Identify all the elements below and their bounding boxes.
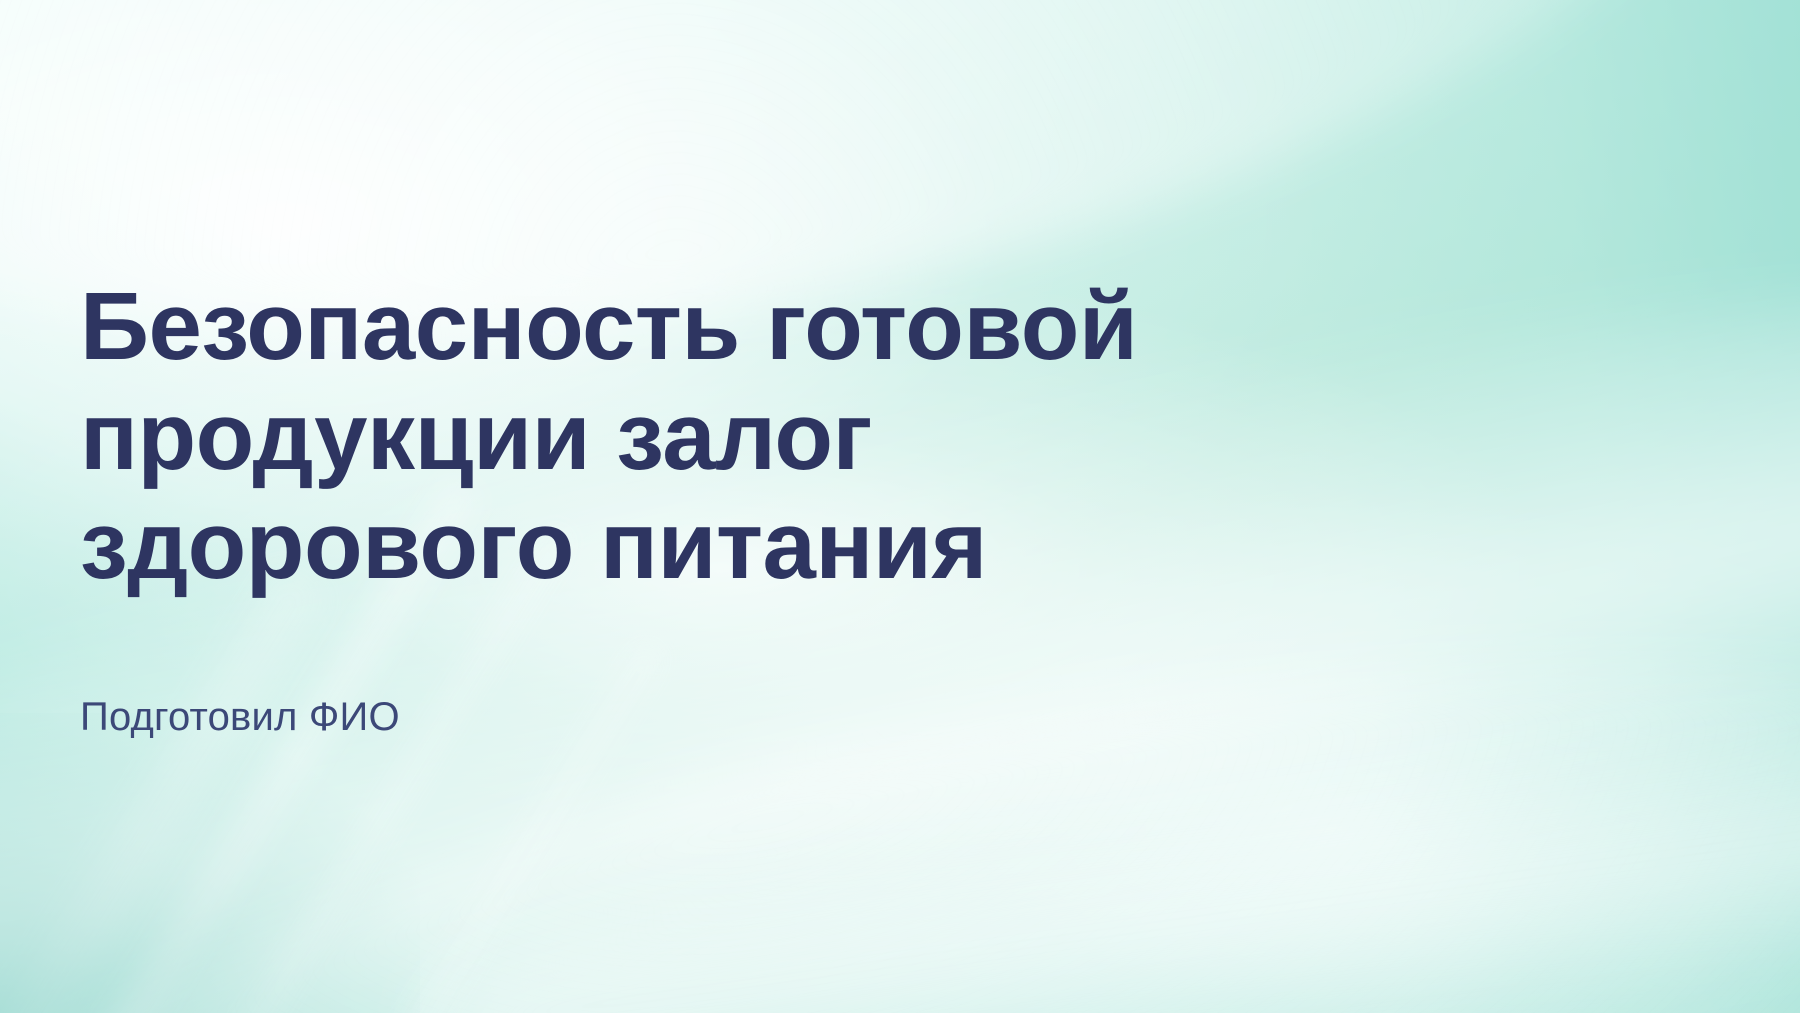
title-slide: Безопасность готовой продукции залог здо… (0, 0, 1800, 1013)
slide-content: Безопасность готовой продукции залог здо… (80, 0, 1380, 1013)
slide-subtitle: Подготовил ФИО (80, 693, 1380, 741)
slide-title: Безопасность готовой продукции залог здо… (80, 272, 1380, 600)
